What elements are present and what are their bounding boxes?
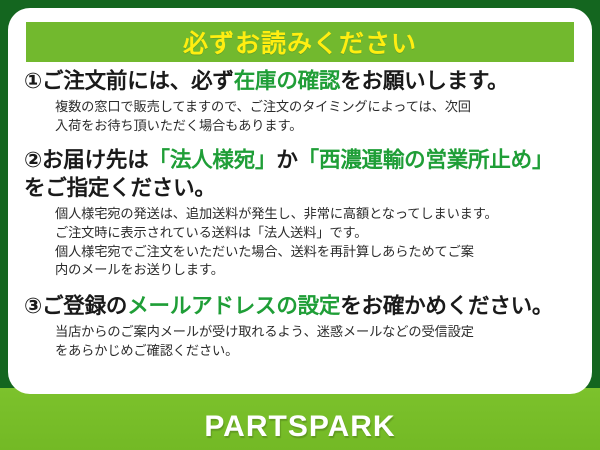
notice-item-1-heading: ①ご注文前には、必ず在庫の確認をお願いします。 xyxy=(24,68,576,96)
notice-item-3: ③ご登録のメールアドレスの設定をお確かめください。 当店からのご案内メールが受け… xyxy=(24,293,576,360)
item-2-heading-highlight-2: 「西濃運輸の営業所止め」 xyxy=(298,148,554,172)
notice-item-1-subtext: 複数の窓口で販売してますので、ご注文のタイミングによっては、次回 入荷をお待ち頂… xyxy=(55,98,576,135)
item-2-sub-line-1: 個人様宅宛の発送は、追加送料が発生し、非常に高額となってしまいます。 xyxy=(55,205,576,224)
footer-band: PARTSPARK xyxy=(0,388,600,450)
notice-content: ①ご注文前には、必ず在庫の確認をお願いします。 複数の窓口で販売してますので、ご… xyxy=(24,68,576,363)
item-3-heading-highlight: メールアドレスの設定 xyxy=(127,294,340,318)
item-2-sub-line-4: 内のメールをお送りします。 xyxy=(55,261,576,280)
item-3-sub-line-1: 当店からのご案内メールが受け取れるよう、迷惑メールなどの受信設定 xyxy=(55,323,576,342)
title-banner: 必ずお読みください xyxy=(26,22,574,62)
notice-item-2: ②お届け先は「法人様宛」か「西濃運輸の営業所止め」 をご指定ください。 個人様宅… xyxy=(24,147,576,280)
item-3-sub-line-2: をあらかじめご確認ください。 xyxy=(55,342,576,361)
brand-logo-text: PARTSPARK xyxy=(0,410,600,444)
notice-item-3-subtext: 当店からのご案内メールが受け取れるよう、迷惑メールなどの受信設定 をあらかじめご… xyxy=(55,323,576,360)
notice-item-2-subtext: 個人様宅宛の発送は、追加送料が発生し、非常に高額となってしまいます。 ご注文時に… xyxy=(55,205,576,280)
notice-item-2-heading-line-1: ②お届け先は「法人様宛」か「西濃運輸の営業所止め」 xyxy=(24,147,576,175)
item-3-heading-part-1: ③ご登録の xyxy=(24,294,127,318)
item-1-heading-part-3: をお願いします。 xyxy=(340,69,508,93)
item-2-heading-highlight-1: 「法人様宛」 xyxy=(149,148,277,172)
notice-root: PARTSPARK 必ずお読みください ①ご注文前には、必ず在庫の確認をお願いし… xyxy=(0,0,600,450)
item-2-sub-line-2: ご注文時に表示されている送料は「法人送料」です。 xyxy=(55,224,576,243)
item-3-heading-part-3: をお確かめください。 xyxy=(340,294,553,318)
item-1-heading-part-1: ①ご注文前には、必ず xyxy=(24,69,234,93)
item-2-heading-part-3: か xyxy=(276,148,297,172)
notice-item-1: ①ご注文前には、必ず在庫の確認をお願いします。 複数の窓口で販売してますので、ご… xyxy=(24,68,576,135)
item-1-sub-line-1: 複数の窓口で販売してますので、ご注文のタイミングによっては、次回 xyxy=(55,98,576,117)
notice-card: 必ずお読みください ①ご注文前には、必ず在庫の確認をお願いします。 複数の窓口で… xyxy=(8,8,592,394)
notice-item-2-heading-line-2: をご指定ください。 xyxy=(24,175,576,203)
item-2-sub-line-3: 個人様宅宛でご注文をいただいた場合、送料を再計算しあらためてご案 xyxy=(55,243,576,262)
notice-item-3-heading: ③ご登録のメールアドレスの設定をお確かめください。 xyxy=(24,293,576,321)
item-1-heading-highlight: 在庫の確認 xyxy=(234,69,341,93)
title-banner-text: 必ずお読みください xyxy=(183,24,417,60)
item-2-heading-part-1: ②お届け先は xyxy=(24,148,149,172)
item-1-sub-line-2: 入荷をお待ち頂いただく場合もあります。 xyxy=(55,117,576,136)
